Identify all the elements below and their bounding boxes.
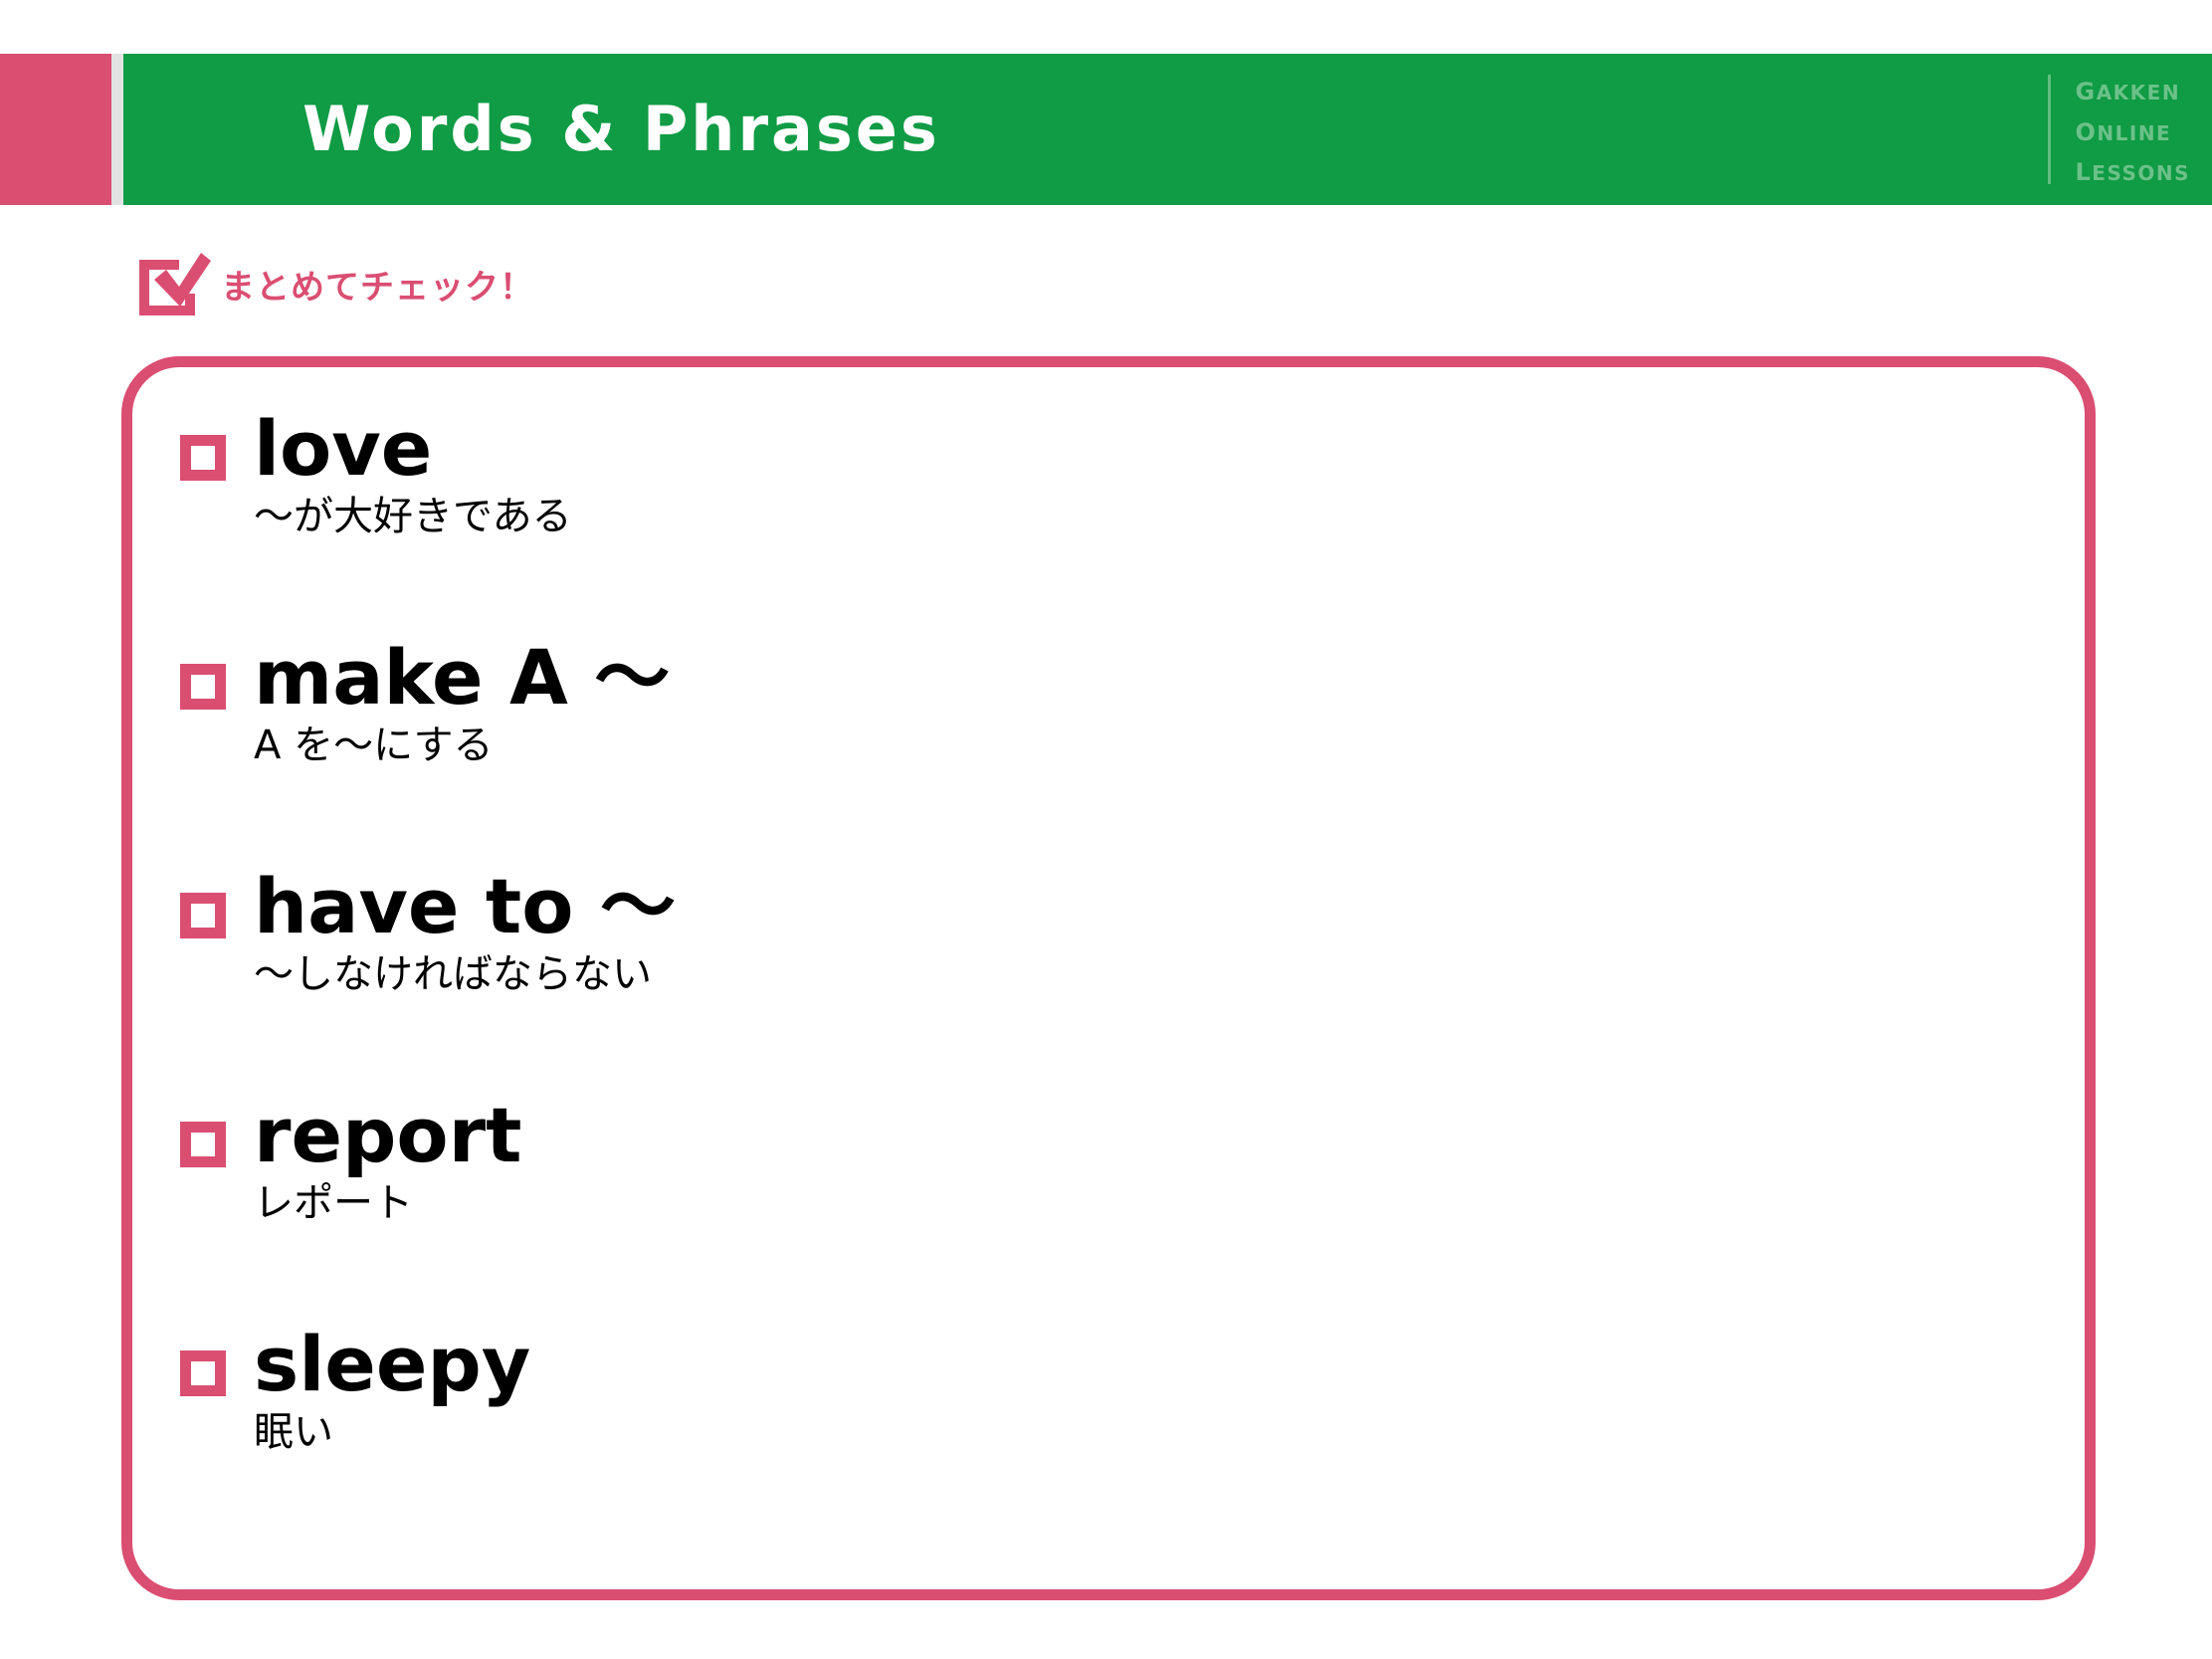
word-meaning: A を〜にする: [254, 721, 670, 770]
brand-logo: Gakken Online Lessons: [2048, 75, 2190, 184]
word-term: have to 〜: [254, 867, 676, 947]
brand-logo-line-3: Lessons: [2075, 151, 2190, 188]
list-item[interactable]: sleepy 眠い: [170, 1325, 2055, 1554]
checkbox-empty-icon[interactable]: [180, 1350, 226, 1396]
header-accent-block: [0, 54, 111, 205]
word-meaning: 〜が大好きである: [254, 492, 572, 541]
page-header: Words & Phrases Gakken Online Lessons: [0, 54, 2212, 205]
header-divider-gap: [111, 54, 123, 205]
list-item[interactable]: have to 〜 〜しなければならない: [170, 867, 2055, 1096]
word-term: report: [254, 1096, 521, 1176]
list-item[interactable]: make A 〜 A を〜にする: [170, 638, 2055, 867]
word-meaning: 眠い: [254, 1407, 530, 1457]
word-list: love 〜が大好きである make A 〜 A を〜にする have to 〜…: [170, 409, 2055, 1554]
list-item[interactable]: love 〜が大好きである: [170, 409, 2055, 638]
word-term: love: [254, 409, 572, 490]
checkbox-empty-icon[interactable]: [180, 435, 226, 481]
page-title: Words & Phrases: [302, 99, 940, 160]
checkbox-empty-icon[interactable]: [180, 1122, 226, 1167]
checkbox-empty-icon[interactable]: [180, 893, 226, 938]
section-check-label: まとめてチェック！: [221, 260, 534, 309]
list-item[interactable]: report レポート: [170, 1096, 2055, 1325]
brand-logo-text: Gakken Online Lessons: [2075, 75, 2190, 184]
checkbox-checked-icon: [133, 250, 211, 317]
brand-divider-line: [2048, 75, 2051, 184]
word-meaning: 〜しなければならない: [254, 949, 676, 999]
word-term: sleepy: [254, 1325, 530, 1405]
word-term: make A 〜: [254, 638, 670, 719]
section-check-header: まとめてチェック！: [133, 247, 534, 320]
word-meaning: レポート: [254, 1178, 521, 1228]
brand-logo-line-1: Gakken: [2075, 71, 2190, 107]
brand-logo-line-2: Online: [2075, 111, 2190, 148]
words-panel: love 〜が大好きである make A 〜 A を〜にする have to 〜…: [121, 356, 2096, 1600]
header-green-bar: Words & Phrases Gakken Online Lessons: [123, 54, 2212, 205]
checkbox-empty-icon[interactable]: [180, 664, 226, 710]
